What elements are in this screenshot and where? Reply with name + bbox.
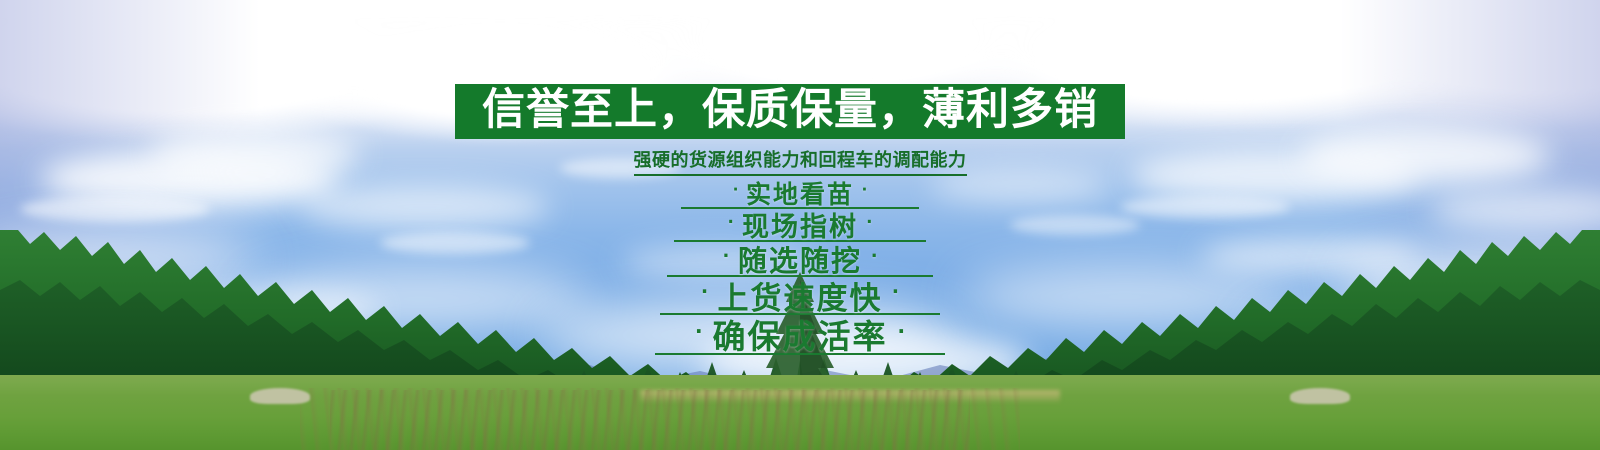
bullet-dot-right: · [862, 182, 868, 198]
feature-list: · 实地看苗 · · 现场指树 · · 随选随挖 · · 上货速度快 · · [0, 178, 1600, 355]
feature-label: 确保成活率 [703, 310, 898, 358]
bullet-dot-left: · [701, 283, 708, 302]
bullet-dot-right: · [897, 321, 905, 341]
bullet-dot-right: · [866, 214, 872, 231]
subtitle-text: 强硬的货源组织能力和回程车的调配能力 [634, 146, 967, 176]
bullet-dot-right: · [892, 283, 899, 302]
bullet-dot-right: · [871, 247, 878, 265]
subtitle-row: 强硬的货源组织能力和回程车的调配能力 [0, 146, 1600, 176]
bullet-dot-left: · [695, 321, 703, 341]
feature-item: · 确保成活率 · [655, 315, 945, 355]
bullet-dot-left: · [728, 214, 734, 231]
bullet-dot-left: · [733, 182, 739, 198]
promo-banner: 信誉至上，保质保量，薄利多销 强硬的货源组织能力和回程车的调配能力 · 实地看苗… [0, 0, 1600, 450]
banner-content: 信誉至上，保质保量，薄利多销 强硬的货源组织能力和回程车的调配能力 · 实地看苗… [0, 0, 1600, 450]
headline-text: 信誉至上，保质保量，薄利多销 [482, 89, 1098, 132]
headline-bar: 信誉至上，保质保量，薄利多销 [455, 84, 1125, 139]
bullet-dot-left: · [722, 247, 729, 265]
